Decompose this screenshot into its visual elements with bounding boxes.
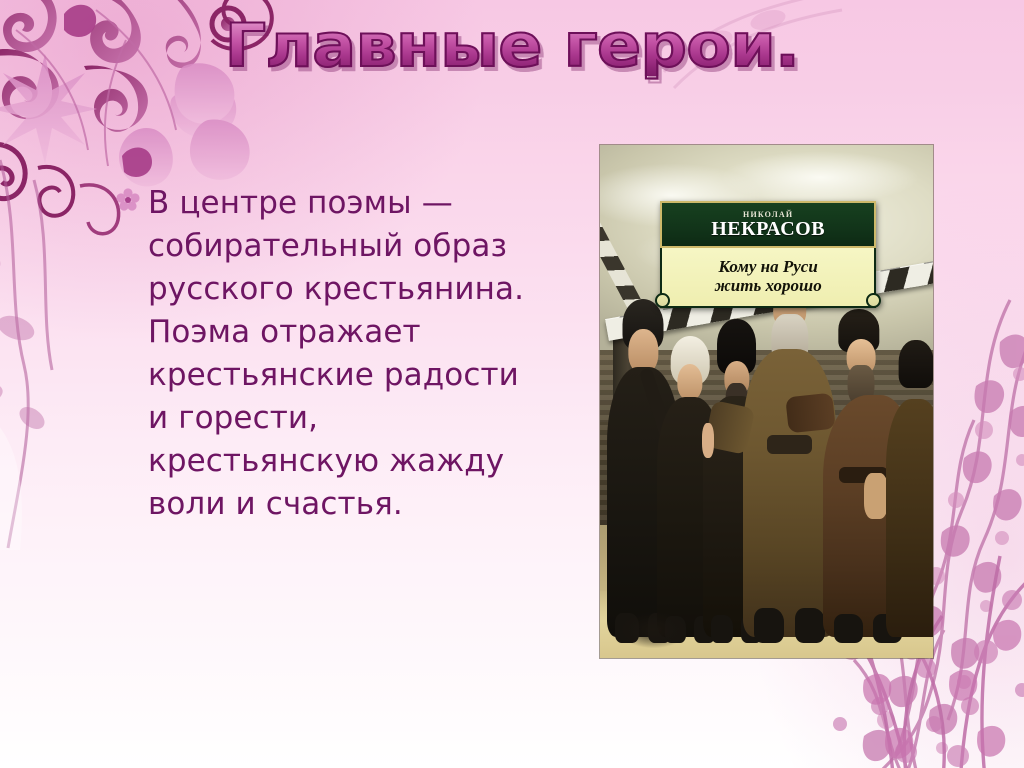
body-line-1: В центре поэмы — [148, 182, 548, 225]
page-title: Главные герои. [225, 16, 800, 76]
body-line-4: Поэма отражает [148, 311, 548, 354]
slide-canvas: Главные герои. В центре поэмы — собирате… [0, 0, 1024, 768]
cover-author-band: НИКОЛАЙ НЕКРАСОВ [660, 201, 876, 248]
body-line-6: и горести, [148, 397, 548, 440]
small-flower-ornament [116, 188, 140, 212]
body-line-8: воли и счастья. [148, 483, 548, 526]
foreground-debris [620, 612, 687, 648]
cover-label: НИКОЛАЙ НЕКРАСОВ Кому на Руси жить хорош… [660, 201, 876, 308]
body-line-2: собирательный образ [148, 225, 548, 268]
body-line-3: русского крестьянина. [148, 268, 548, 311]
cover-author-name: НЕКРАСОВ [666, 219, 870, 240]
belt [767, 435, 812, 454]
body-line-5: крестьянские радости [148, 354, 548, 397]
cover-title-line-2: жить хорошо [668, 276, 868, 295]
cover-title-band: Кому на Руси жить хорошо [660, 248, 876, 308]
cover-title-line-1: Кому на Руси [668, 257, 868, 276]
figure-background-right [886, 340, 933, 638]
body-line-7: крестьянскую жажду [148, 440, 548, 483]
slide-title-container: Главные герои. [0, 16, 1024, 76]
body-text-block: В центре поэмы — собирательный образ рус… [148, 182, 548, 526]
book-cover-image: НИКОЛАЙ НЕКРАСОВ Кому на Руси жить хорош… [600, 145, 933, 658]
